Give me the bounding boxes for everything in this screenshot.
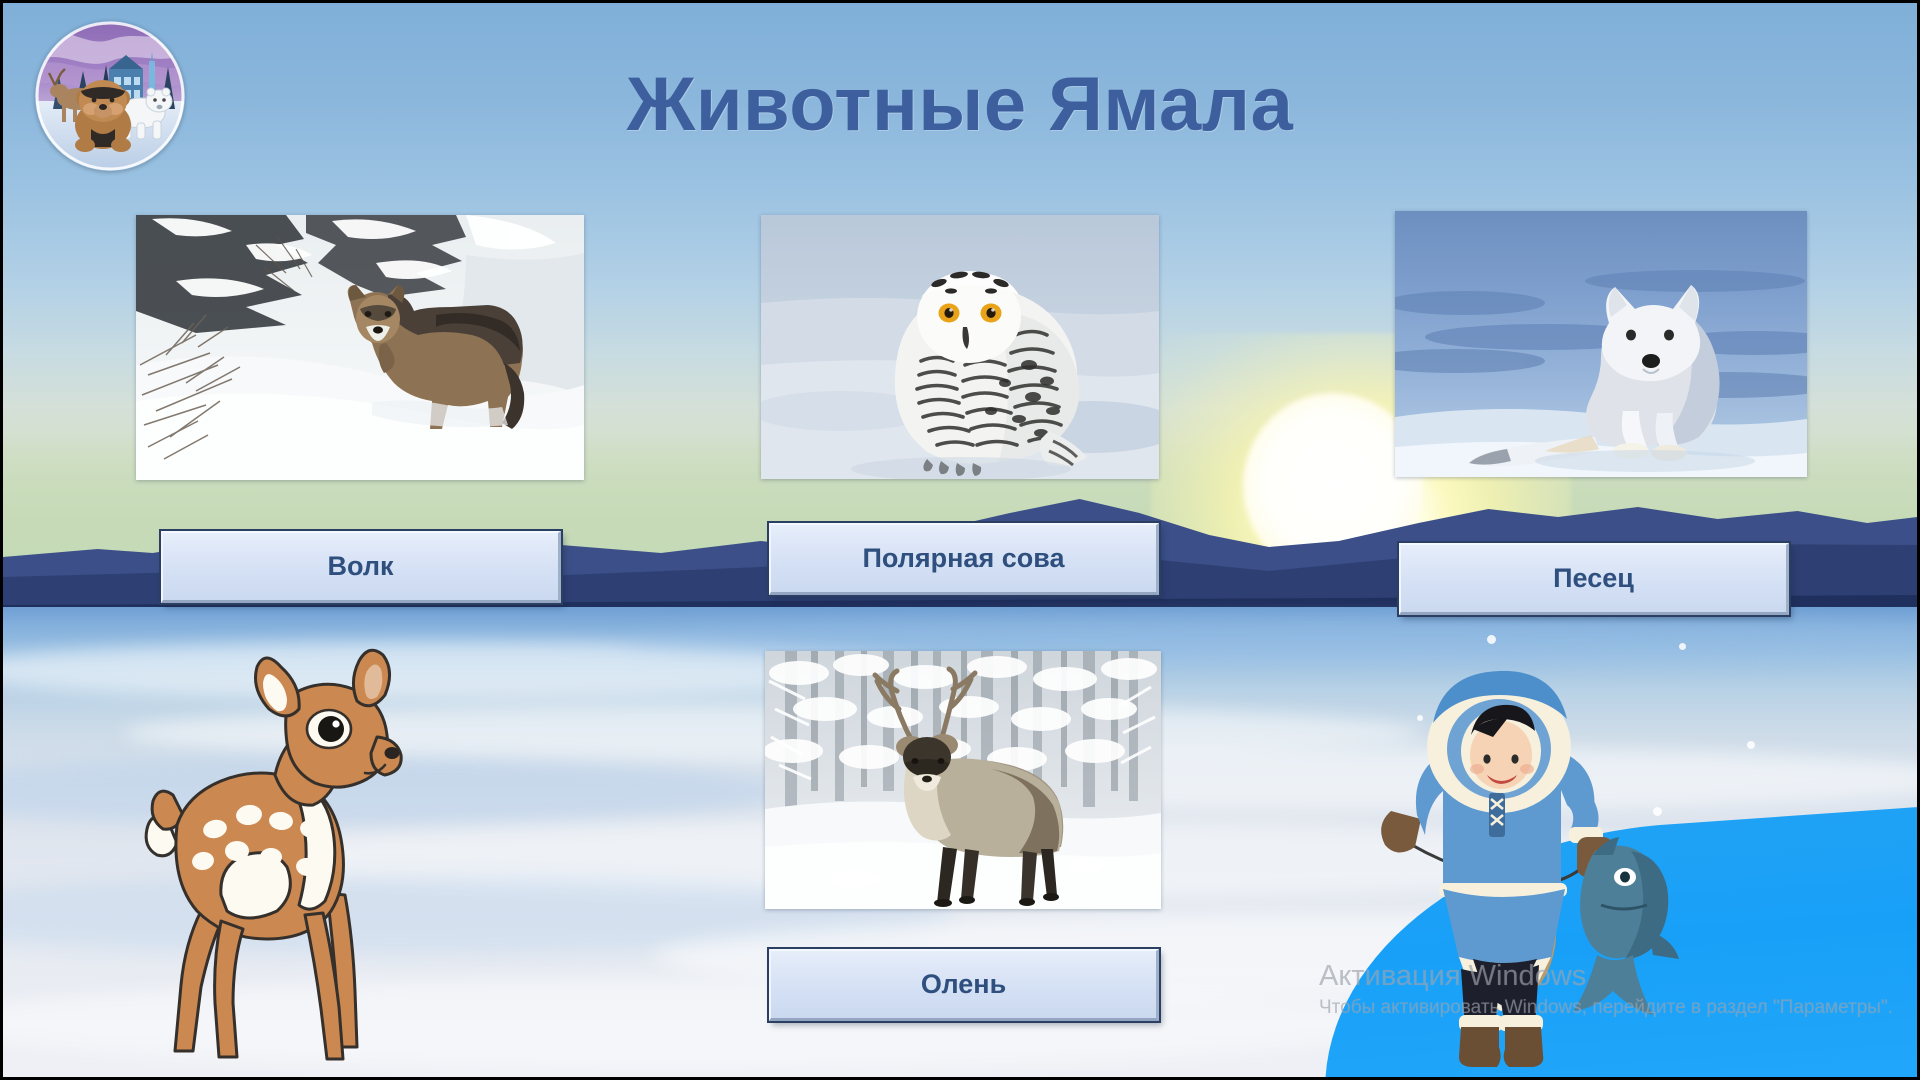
label-fox[interactable]: Песец bbox=[1399, 543, 1789, 615]
photo-owl[interactable] bbox=[761, 215, 1159, 479]
fawn-illustration bbox=[115, 643, 415, 1073]
label-owl[interactable]: Полярная сова bbox=[769, 523, 1159, 595]
photo-deer[interactable] bbox=[765, 651, 1161, 909]
sparkle-icon bbox=[1747, 741, 1755, 749]
photo-wolf[interactable] bbox=[136, 215, 584, 480]
sparkle-icon bbox=[1679, 643, 1686, 650]
slide-canvas: Животные Ямала bbox=[0, 0, 1920, 1080]
label-deer[interactable]: Олень bbox=[769, 949, 1159, 1021]
page-title: Животные Ямала bbox=[3, 61, 1917, 148]
nenets-boy-illustration bbox=[1381, 659, 1681, 1071]
photo-fox[interactable] bbox=[1395, 211, 1807, 477]
label-wolf[interactable]: Волк bbox=[161, 531, 561, 603]
sparkle-icon bbox=[1487, 635, 1496, 644]
